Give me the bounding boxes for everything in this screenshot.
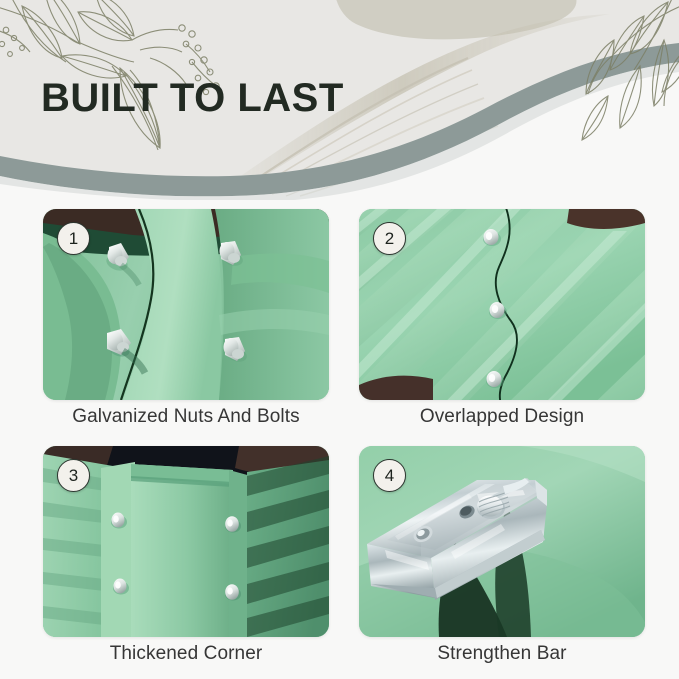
badge-number-4: 4 [373,459,406,492]
feature-caption-1: Galvanized Nuts And Bolts [43,407,329,427]
strengthen-bar-photo: 4 [359,446,645,637]
badge-label: 3 [69,466,78,486]
page-title: BUILT TO LAST [41,78,344,118]
header-banner: BUILT TO LAST [0,0,679,200]
feature-card-4[interactable]: 4 Strengthen Bar [359,446,645,664]
badge-number-1: 1 [57,222,90,255]
badge-label: 1 [69,229,78,249]
feature-caption-4: Strengthen Bar [359,644,645,664]
galvanized-nuts-and-bolts-photo: 1 [43,209,329,400]
infographic-page: BUILT TO LAST [0,0,679,679]
feature-card-1[interactable]: 1 Galvanized Nuts And Bolts [43,209,329,427]
feature-caption-2: Overlapped Design [359,407,645,427]
feature-card-3[interactable]: 3 Thickened Corner [43,446,329,664]
overlapped-design-photo: 2 [359,209,645,400]
feature-caption-3: Thickened Corner [43,644,329,664]
badge-number-2: 2 [373,222,406,255]
feature-grid: 1 Galvanized Nuts And Bolts [43,209,645,664]
badge-label: 2 [385,229,394,249]
badge-label: 4 [385,466,394,486]
badge-number-3: 3 [57,459,90,492]
feature-card-2[interactable]: 2 Overlapped Design [359,209,645,427]
thickened-corner-photo: 3 [43,446,329,637]
